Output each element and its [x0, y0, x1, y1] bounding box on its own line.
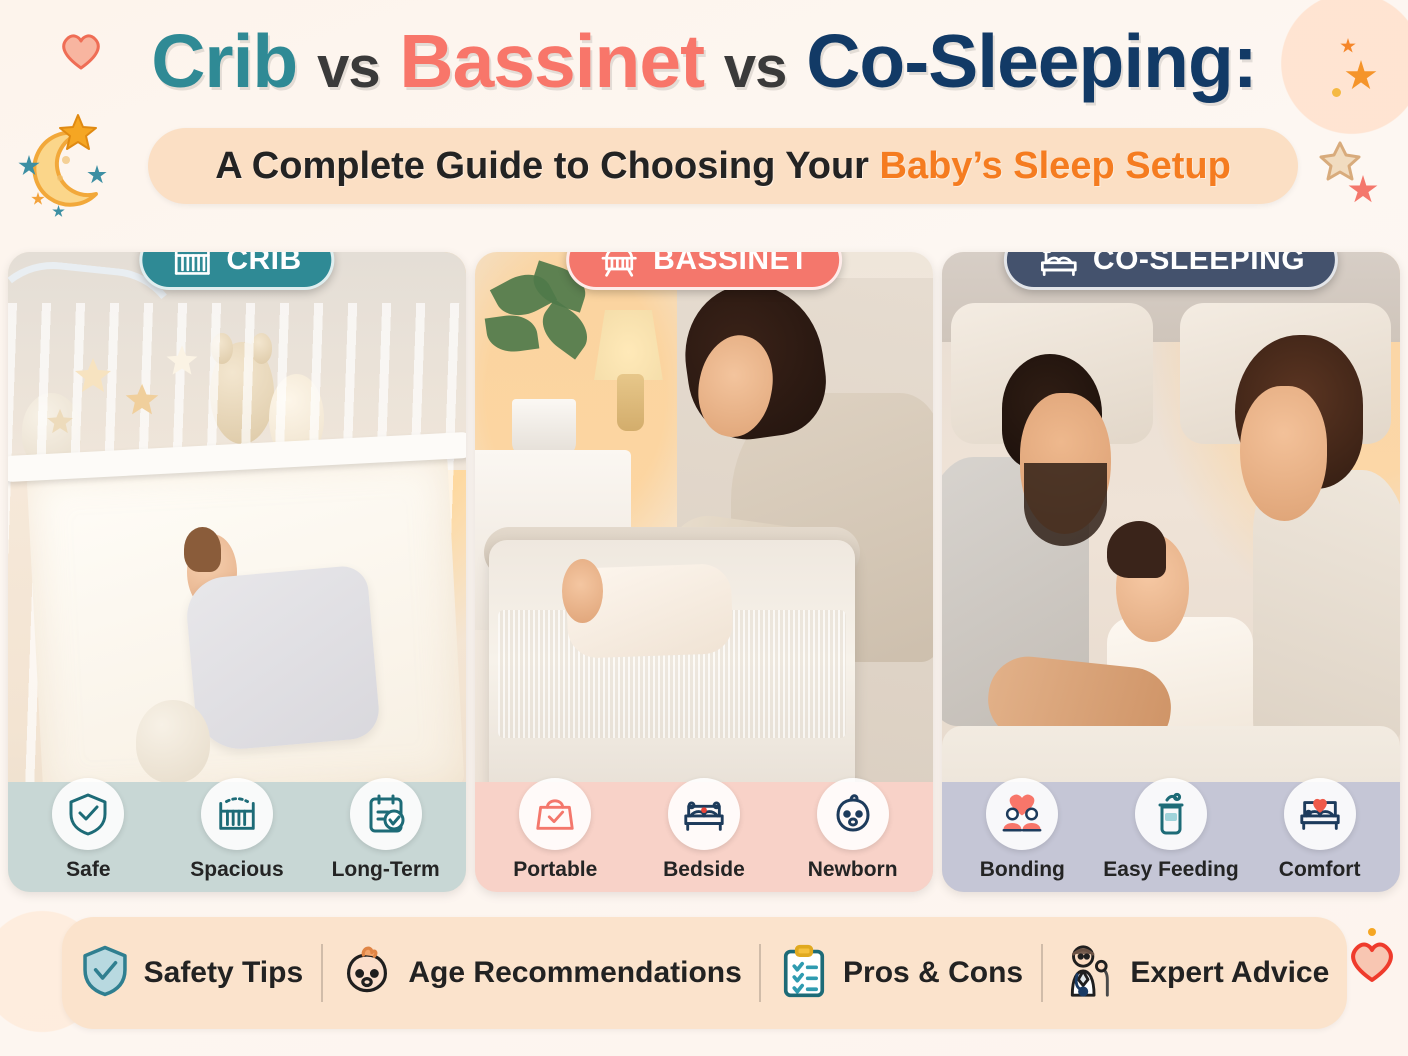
badge-co-sleeping[interactable]: CO-SLEEPING	[1004, 252, 1338, 290]
baby-bottle-icon	[1135, 778, 1207, 850]
baby-face-icon	[340, 944, 394, 1003]
crescent-moon-icon	[18, 108, 138, 228]
subtitle-pill: A Complete Guide to Choosing Your Baby’s…	[148, 128, 1298, 204]
dot-amber-icon	[1368, 928, 1376, 936]
page-title: Crib vs Bassinet vs Co-Sleeping:	[0, 18, 1408, 104]
feature-label: Safe	[66, 858, 110, 882]
badge-crib[interactable]: CRIB	[139, 252, 334, 290]
feature-easy-feeding[interactable]: Easy Feeding	[1097, 778, 1244, 882]
bassinet-icon	[599, 252, 639, 278]
title-word-vs-1: vs	[317, 35, 380, 100]
co-sleeping-features: Bonding Easy Feeding	[942, 782, 1400, 892]
topic-expert-advice[interactable]: Expert Advice	[1060, 942, 1329, 1005]
title-word-cosleeping: Co-Sleeping:	[806, 19, 1257, 103]
badge-bassinet-label: BASSINET	[653, 252, 809, 277]
subtitle-main: A Complete Guide to Choosing Your	[215, 145, 879, 187]
topic-label: Pros & Cons	[843, 956, 1023, 990]
divider	[321, 944, 323, 1002]
feature-portable[interactable]: Portable	[482, 778, 629, 882]
divider	[759, 944, 761, 1002]
feature-bonding[interactable]: Bonding	[949, 778, 1096, 882]
clipboard-list-icon	[779, 943, 829, 1004]
star-teal-icon	[87, 165, 107, 185]
feature-newborn[interactable]: Newborn	[779, 778, 926, 882]
panel-co-sleeping[interactable]: CO-SLEEPING Bonding	[942, 252, 1400, 892]
feature-comfort[interactable]: Comfort	[1246, 778, 1393, 882]
topic-safety-tips[interactable]: Safety Tips	[80, 944, 304, 1003]
bottom-topic-bar: Safety Tips Age Recommendations	[62, 917, 1347, 1029]
topic-label: Expert Advice	[1130, 956, 1329, 990]
panel-crib[interactable]: CRIB Safe	[8, 252, 466, 892]
badge-bassinet[interactable]: BASSINET	[566, 252, 842, 290]
shield-check-icon	[52, 778, 124, 850]
heart-red-outline-icon	[1348, 940, 1396, 984]
star-coral-icon	[1348, 175, 1378, 205]
bed-lamp-icon	[1037, 252, 1079, 278]
topic-label: Safety Tips	[144, 956, 304, 990]
badge-crib-label: CRIB	[226, 252, 301, 277]
feature-bedside[interactable]: Bedside	[630, 778, 777, 882]
badge-co-sleeping-label: CO-SLEEPING	[1093, 252, 1305, 277]
infographic-poster: Crib vs Bassinet vs Co-Sleeping: A Compl…	[0, 0, 1408, 1056]
feature-label: Bedside	[663, 858, 745, 882]
crib-icon	[201, 778, 273, 850]
feature-label: Comfort	[1279, 858, 1361, 882]
bed-heart-icon	[1284, 778, 1356, 850]
couple-heart-icon	[986, 778, 1058, 850]
topic-age-recommendations[interactable]: Age Recommendations	[340, 944, 741, 1003]
shield-check-icon	[80, 944, 130, 1003]
star-teal-icon	[18, 155, 40, 177]
divider	[1041, 944, 1043, 1002]
star-beige-icon	[1318, 140, 1362, 182]
feature-label: Spacious	[190, 858, 283, 882]
crib-icon	[172, 252, 212, 277]
subtitle: A Complete Guide to Choosing Your Baby’s…	[215, 145, 1231, 188]
feature-spacious[interactable]: Spacious	[163, 778, 310, 882]
panel-bassinet[interactable]: BASSINET Portable	[475, 252, 933, 892]
title-word-bassinet: Bassinet	[399, 19, 704, 103]
bassinet-features: Portable Bedside	[475, 782, 933, 892]
feature-label: Long-Term	[332, 858, 440, 882]
feature-label: Portable	[513, 858, 597, 882]
feature-long-term[interactable]: Long-Term	[312, 778, 459, 882]
bag-check-icon	[519, 778, 591, 850]
star-teal-icon	[52, 205, 65, 218]
star-orange-icon	[31, 192, 45, 206]
subtitle-accent: Baby’s Sleep Setup	[880, 145, 1231, 187]
topic-label: Age Recommendations	[408, 956, 741, 990]
doctor-icon	[1060, 942, 1116, 1005]
title-word-vs-2: vs	[724, 35, 787, 100]
clipboard-check-icon	[350, 778, 422, 850]
comparison-panels: CRIB Safe	[8, 252, 1400, 892]
feature-label: Bonding	[980, 858, 1065, 882]
bed-icon	[668, 778, 740, 850]
title-word-crib: Crib	[151, 19, 297, 103]
feature-label: Easy Feeding	[1103, 858, 1238, 882]
star-orange-small-icon	[58, 112, 98, 152]
topic-pros-cons[interactable]: Pros & Cons	[779, 943, 1023, 1004]
crib-features: Safe Spacious	[8, 782, 466, 892]
feature-label: Newborn	[808, 858, 898, 882]
feature-safe[interactable]: Safe	[15, 778, 162, 882]
baby-face-icon	[817, 778, 889, 850]
